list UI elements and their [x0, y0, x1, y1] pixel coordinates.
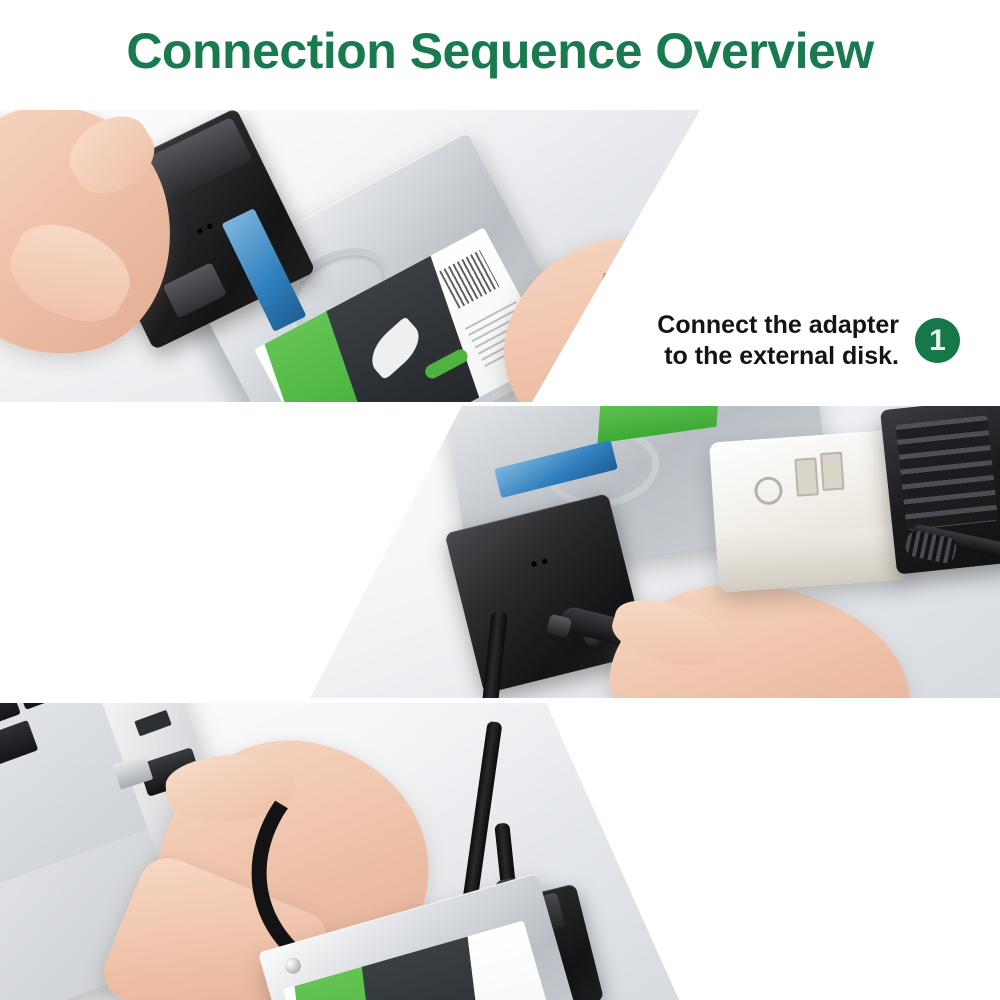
- infographic-page: Connection Sequence Overview: [0, 0, 1000, 1000]
- seagate-green-stripe-2: [598, 406, 720, 443]
- step-panel-1: Connect the adapter to the external disk…: [0, 110, 1000, 402]
- hdd-barcode: [439, 250, 499, 309]
- adapter-led-holes: [194, 221, 216, 236]
- step-1-badge: 1: [915, 318, 960, 363]
- barracuda-dark-band-3: [362, 936, 486, 1000]
- step-1-caption: Connect the adapter to the external disk…: [657, 310, 960, 371]
- step-panel-2: 2 Connect to the power supply. Note: DC …: [0, 406, 1000, 698]
- hdd-label-3: [283, 920, 565, 1000]
- step-1-photo: [0, 110, 700, 402]
- usb-port-2: [820, 452, 845, 491]
- step-panel-3: Plug in the USB porton PC/laptop. 3: [0, 703, 1000, 1000]
- page-title: Connection Sequence Overview: [0, 22, 1000, 80]
- usb-hub: [709, 430, 909, 593]
- usb-port-1: [794, 457, 819, 496]
- hdd-screw-3: [283, 956, 303, 976]
- step-3-photo: [0, 703, 700, 1000]
- step-2-photo: [310, 406, 1000, 698]
- hub-power-button: [754, 476, 784, 506]
- adapter-front-tab: [163, 262, 227, 318]
- adapter-led-holes-2: [528, 557, 551, 568]
- step-1-text: Connect the adapter to the external disk…: [657, 310, 899, 371]
- psu-vent-ribs: [896, 415, 999, 530]
